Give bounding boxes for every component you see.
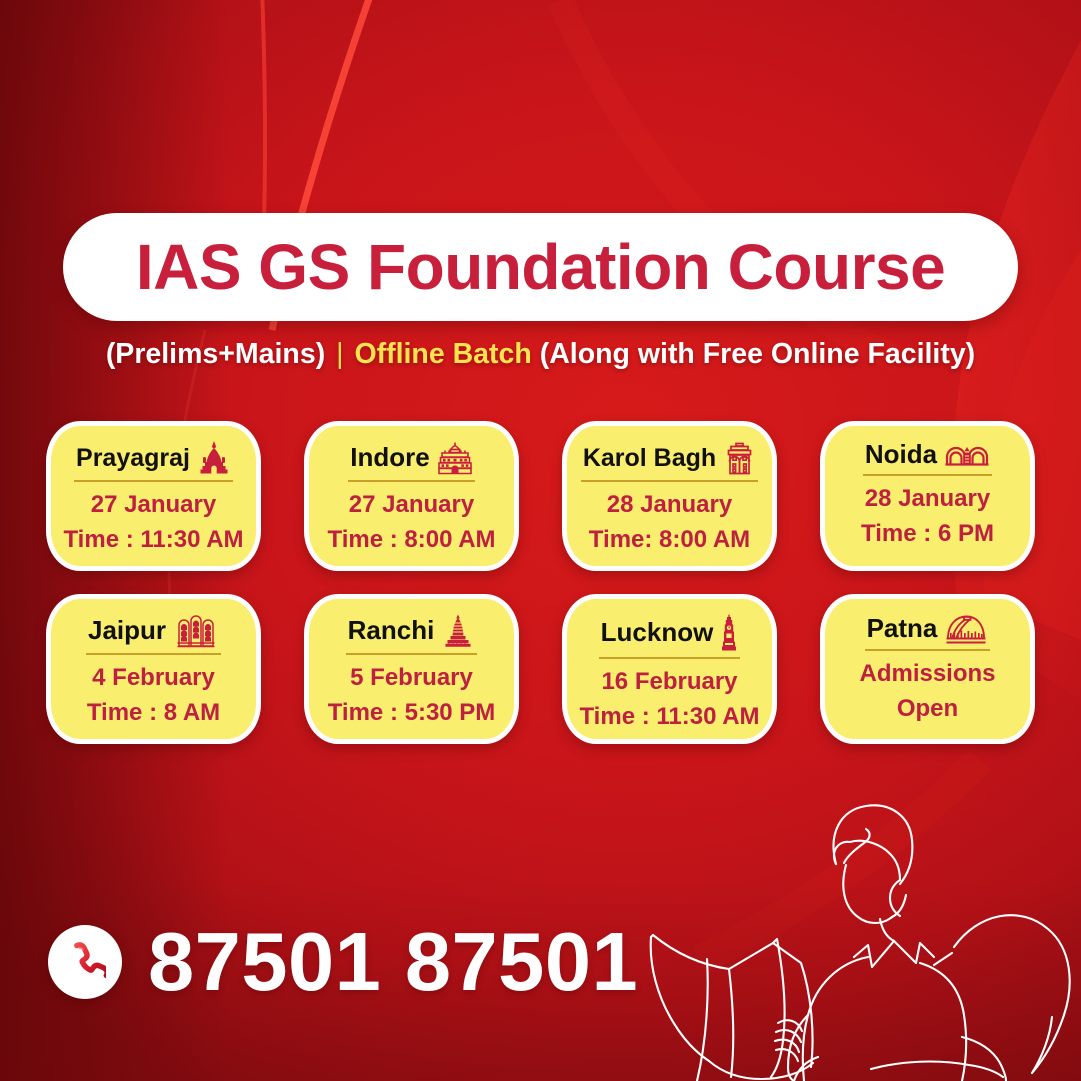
city-name: Ranchi (348, 617, 435, 644)
card-header: Noida (863, 440, 992, 476)
subtitle-prefix: (Prelims+Mains) (106, 338, 325, 370)
batch-card-patna[interactable]: Patna (820, 594, 1035, 744)
batch-card-karol-bagh[interactable]: Karol Bagh (562, 421, 777, 571)
ranchi-temple-icon (441, 613, 475, 649)
batch-date: 28 January (865, 485, 990, 513)
batch-time: Time : 8 AM (87, 699, 220, 727)
batch-card-lucknow[interactable]: Lucknow (562, 594, 777, 744)
city-name: Noida (865, 441, 937, 468)
batch-date: 27 January (349, 491, 474, 519)
card-header: Jaipur (86, 613, 221, 655)
phone-number: 87501 87501 (148, 920, 638, 1003)
batch-date: 5 February (350, 664, 473, 692)
title-banner: IAS GS Foundation Course (63, 213, 1018, 321)
batch-card-grid: Prayagraj 27 Janu (0, 421, 1081, 744)
city-name: Lucknow (601, 619, 714, 646)
batch-card-jaipur[interactable]: Jaipur (46, 594, 261, 744)
card-header: Lucknow (599, 613, 741, 659)
batch-row-1: Prayagraj 27 Janu (0, 421, 1081, 571)
city-name: Prayagraj (76, 445, 190, 471)
prayagraj-temple-icon (197, 440, 231, 476)
city-name: Indore (350, 444, 429, 471)
lucknow-clock-tower-icon (720, 613, 738, 653)
batch-time: Time : 5:30 PM (328, 699, 496, 727)
card-header: Ranchi (346, 613, 478, 655)
batch-card-prayagraj[interactable]: Prayagraj 27 Janu (46, 421, 261, 571)
batch-row-2: Jaipur (0, 594, 1081, 744)
card-header: Indore (348, 440, 474, 482)
batch-date: 28 January (607, 491, 732, 519)
phone-icon-badge (48, 925, 122, 999)
batch-time: Time : 6 PM (861, 520, 994, 548)
page-title: IAS GS Foundation Course (136, 230, 945, 304)
batch-time: Time : 8:00 AM (327, 526, 495, 554)
subtitle-suffix: (Along with Free Online Facility) (540, 338, 975, 370)
batch-time: Time : 11:30 AM (579, 703, 759, 731)
batch-date: 4 February (92, 664, 215, 692)
phone-handset-icon (64, 941, 106, 983)
batch-time: Open (897, 695, 958, 723)
batch-date: 27 January (91, 491, 216, 519)
batch-date: 16 February (601, 668, 737, 696)
batch-card-noida[interactable]: Noida (820, 421, 1035, 571)
card-header: Prayagraj (74, 440, 233, 482)
patna-golghar-icon (944, 613, 988, 645)
batch-date: Admissions (859, 660, 995, 688)
noida-arch-gateway-icon (944, 440, 990, 470)
city-name: Karol Bagh (583, 445, 716, 471)
india-gate-icon (723, 440, 756, 476)
card-header: Karol Bagh (581, 440, 758, 482)
contact-phone-row[interactable]: 87501 87501 (48, 920, 638, 1003)
card-header: Patna (865, 613, 991, 651)
indore-rajwada-palace-icon (437, 440, 473, 476)
city-name: Jaipur (88, 617, 166, 644)
batch-time: Time: 8:00 AM (589, 526, 750, 554)
subtitle-highlight: Offline Batch (354, 338, 531, 370)
batch-card-indore[interactable]: Indore (304, 421, 519, 571)
poster-canvas: IAS GS Foundation Course (Prelims+Mains)… (0, 0, 1081, 1081)
batch-time: Time : 11:30 AM (63, 526, 243, 554)
subtitle: (Prelims+Mains) | Offline Batch (Along w… (0, 338, 1081, 371)
city-name: Patna (867, 615, 938, 642)
batch-card-ranchi[interactable]: Ranchi (304, 594, 519, 744)
subtitle-separator: | (336, 338, 343, 370)
hawa-mahal-icon (173, 613, 219, 649)
